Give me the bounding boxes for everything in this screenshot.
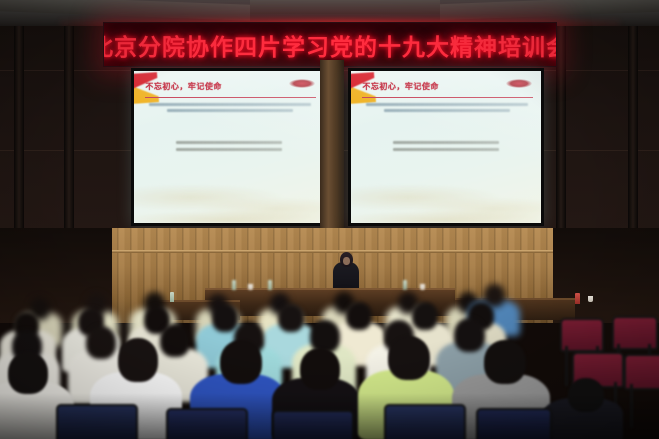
wall-pillar-left [14,26,24,236]
tea-cup [588,296,593,302]
slide-body-line [149,103,311,106]
attendee-head [212,304,238,332]
attendee-head [454,318,485,352]
left-slide-signature [176,141,282,155]
attendee-head [388,336,430,380]
attendee-head [8,352,48,394]
right-screen-surface: 不忘初心，牢记使命 [351,71,541,223]
tea-cup [420,284,425,290]
water-bottle [575,293,580,304]
attendee-head [412,302,438,330]
attendee-head [278,304,304,332]
slide-body-line [366,103,528,106]
banner-title: 北京分院协作四片学习党的十九大精神培训会 [103,28,557,62]
chair-leg [565,346,568,386]
slide-body-line [384,109,510,112]
slide-signature-line [176,148,282,151]
attendee-head [568,378,604,412]
seat-back [272,410,354,439]
attendee-head [86,326,116,359]
water-bottle [170,292,174,302]
seat-back [384,404,466,439]
seat-back [56,404,138,439]
right-slide-title: 不忘初心，牢记使命 [362,81,439,92]
right-projection-screen: 不忘初心，牢记使命 [348,68,544,226]
party-emblem-icon [289,79,315,88]
seat-back [476,408,552,439]
attendee-head [118,338,158,382]
conference-photo: 北京分院协作四片学习党的十九大精神培训会 不忘初心，牢记使命 [0,0,659,439]
left-slide-body [149,103,311,116]
attendee-head [484,340,526,384]
left-slide-title: 不忘初心，牢记使命 [145,81,222,92]
attendee-head [160,324,190,357]
ceiling-panel-center [250,0,440,14]
right-slide-body [366,103,528,116]
left-screen-surface: 不忘初心，牢记使命 [134,71,324,223]
slide-signature-line [393,148,499,151]
attendee-head [346,302,372,330]
water-bottle [232,280,236,290]
presenter-face [343,257,350,265]
slide-wave-graphic [351,159,541,223]
wall-pillar-right-inner [556,26,566,236]
wall-pillar-right [628,26,638,236]
wall-pillar-left-inner [64,26,74,236]
left-projection-screen: 不忘初心，牢记使命 [131,68,327,226]
attendee-head [220,340,262,384]
right-slide-signature [393,141,499,155]
water-bottle [403,280,407,290]
slide-body-line [167,109,293,112]
tea-cup [248,284,253,290]
water-bottle [268,280,272,290]
center-pillar [320,60,344,238]
slide-signature-line [393,141,499,144]
attendee-head [300,348,340,390]
slide-signature-line [176,141,282,144]
slide-wave-graphic [134,159,324,223]
chair-leg [630,384,633,428]
party-emblem-icon [506,79,532,88]
seat-back [166,408,248,439]
